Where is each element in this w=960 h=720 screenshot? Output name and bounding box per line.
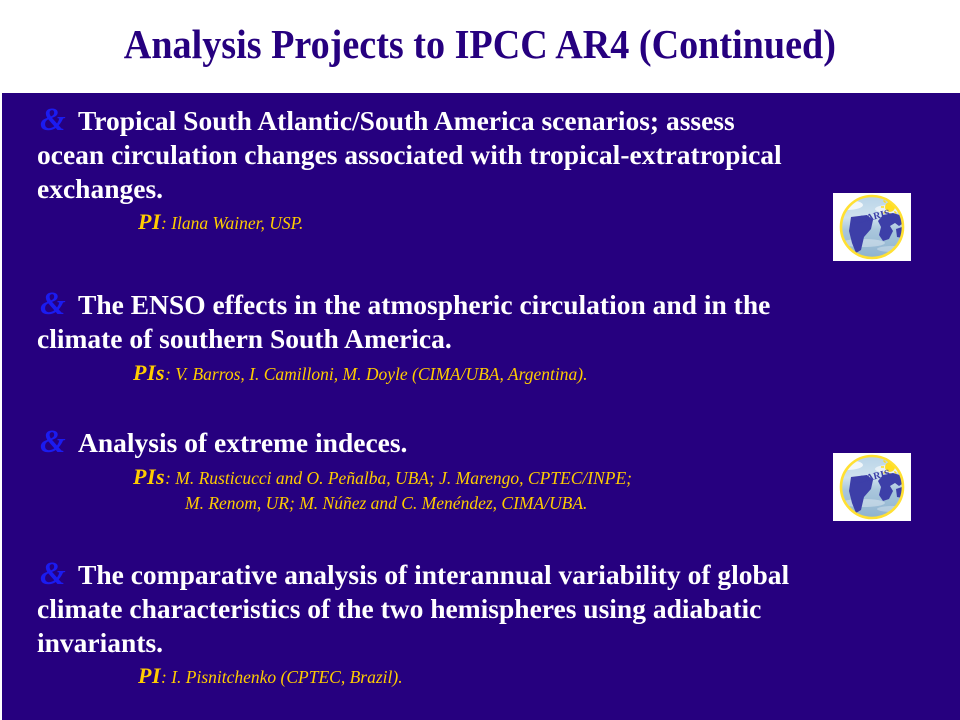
bullet-block-4: & The comparative analysis of interannua… bbox=[2, 558, 960, 690]
bullet-2-text-line-1: The ENSO effects in the atmospheric circ… bbox=[78, 288, 770, 322]
credit-text: : Ilana Wainer, USP. bbox=[161, 213, 303, 233]
bullet-2-line-1: & The ENSO effects in the atmospheric ci… bbox=[2, 288, 960, 322]
bullet-4-line-3: invariants. bbox=[2, 626, 960, 660]
bullet-3-line-1: & Analysis of extreme indeces. bbox=[2, 426, 960, 460]
bullet-4-line-2: climate characteristics of the two hemis… bbox=[2, 592, 960, 626]
bullet-1-text-line-1: Tropical South Atlantic/South America sc… bbox=[78, 104, 735, 138]
ampersand-bullet-icon: & bbox=[40, 287, 66, 321]
bullet-4-text-line-1: The comparative analysis of interannual … bbox=[78, 558, 789, 592]
bullet-1-line-3: exchanges. bbox=[2, 172, 960, 206]
bullet-block-2: & The ENSO effects in the atmospheric ci… bbox=[2, 288, 960, 387]
ampersand-bullet-icon: & bbox=[40, 103, 66, 137]
bullet-4-line-1: & The comparative analysis of interannua… bbox=[2, 558, 960, 592]
claris-logo-1: CLARIS bbox=[833, 193, 911, 261]
credit-label: PI bbox=[138, 663, 161, 688]
title-band: Analysis Projects to IPCC AR4 (Continued… bbox=[0, 0, 960, 93]
credit-text: : I. Pisnitchenko (CPTEC, Brazil). bbox=[161, 667, 403, 687]
credit-label: PIs bbox=[133, 360, 165, 385]
bullet-1-credit-1: PI: Ilana Wainer, USP. bbox=[2, 209, 960, 236]
ampersand-bullet-icon: & bbox=[40, 557, 66, 591]
claris-logo-2: CLARIS bbox=[833, 453, 911, 521]
bullet-4-credit-1: PI: I. Pisnitchenko (CPTEC, Brazil). bbox=[2, 663, 960, 690]
credit-text: : M. Rusticucci and O. Peñalba, UBA; J. … bbox=[165, 468, 632, 488]
ampersand-bullet-icon: & bbox=[40, 425, 66, 459]
bullet-2-line-2: climate of southern South America. bbox=[2, 322, 960, 356]
slide-body: & Tropical South Atlantic/South America … bbox=[2, 93, 960, 720]
bullet-1-line-2: ocean circulation changes associated wit… bbox=[2, 138, 960, 172]
credit-label: PI bbox=[138, 209, 161, 234]
bullet-block-3: & Analysis of extreme indeces. PIs: M. R… bbox=[2, 426, 960, 516]
bullet-1-line-1: & Tropical South Atlantic/South America … bbox=[2, 104, 960, 138]
claris-logo-graphic: CLARIS bbox=[833, 453, 911, 521]
bullet-2-credit-1: PIs: V. Barros, I. Camilloni, M. Doyle (… bbox=[2, 360, 960, 387]
credit-text: M. Renom, UR; M. Núñez and C. Menéndez, … bbox=[185, 493, 587, 513]
claris-logo-graphic: CLARIS bbox=[833, 193, 911, 261]
slide: Analysis Projects to IPCC AR4 (Continued… bbox=[0, 0, 960, 720]
bullet-3-credit-1: PIs: M. Rusticucci and O. Peñalba, UBA; … bbox=[2, 464, 960, 491]
bullet-3-credit-2: M. Renom, UR; M. Núñez and C. Menéndez, … bbox=[2, 491, 960, 516]
page-title: Analysis Projects to IPCC AR4 (Continued… bbox=[124, 24, 836, 65]
bullet-3-text-line-1: Analysis of extreme indeces. bbox=[78, 426, 407, 460]
bullet-block-1: & Tropical South Atlantic/South America … bbox=[2, 104, 960, 236]
credit-text: : V. Barros, I. Camilloni, M. Doyle (CIM… bbox=[165, 364, 587, 384]
credit-label: PIs bbox=[133, 464, 165, 489]
